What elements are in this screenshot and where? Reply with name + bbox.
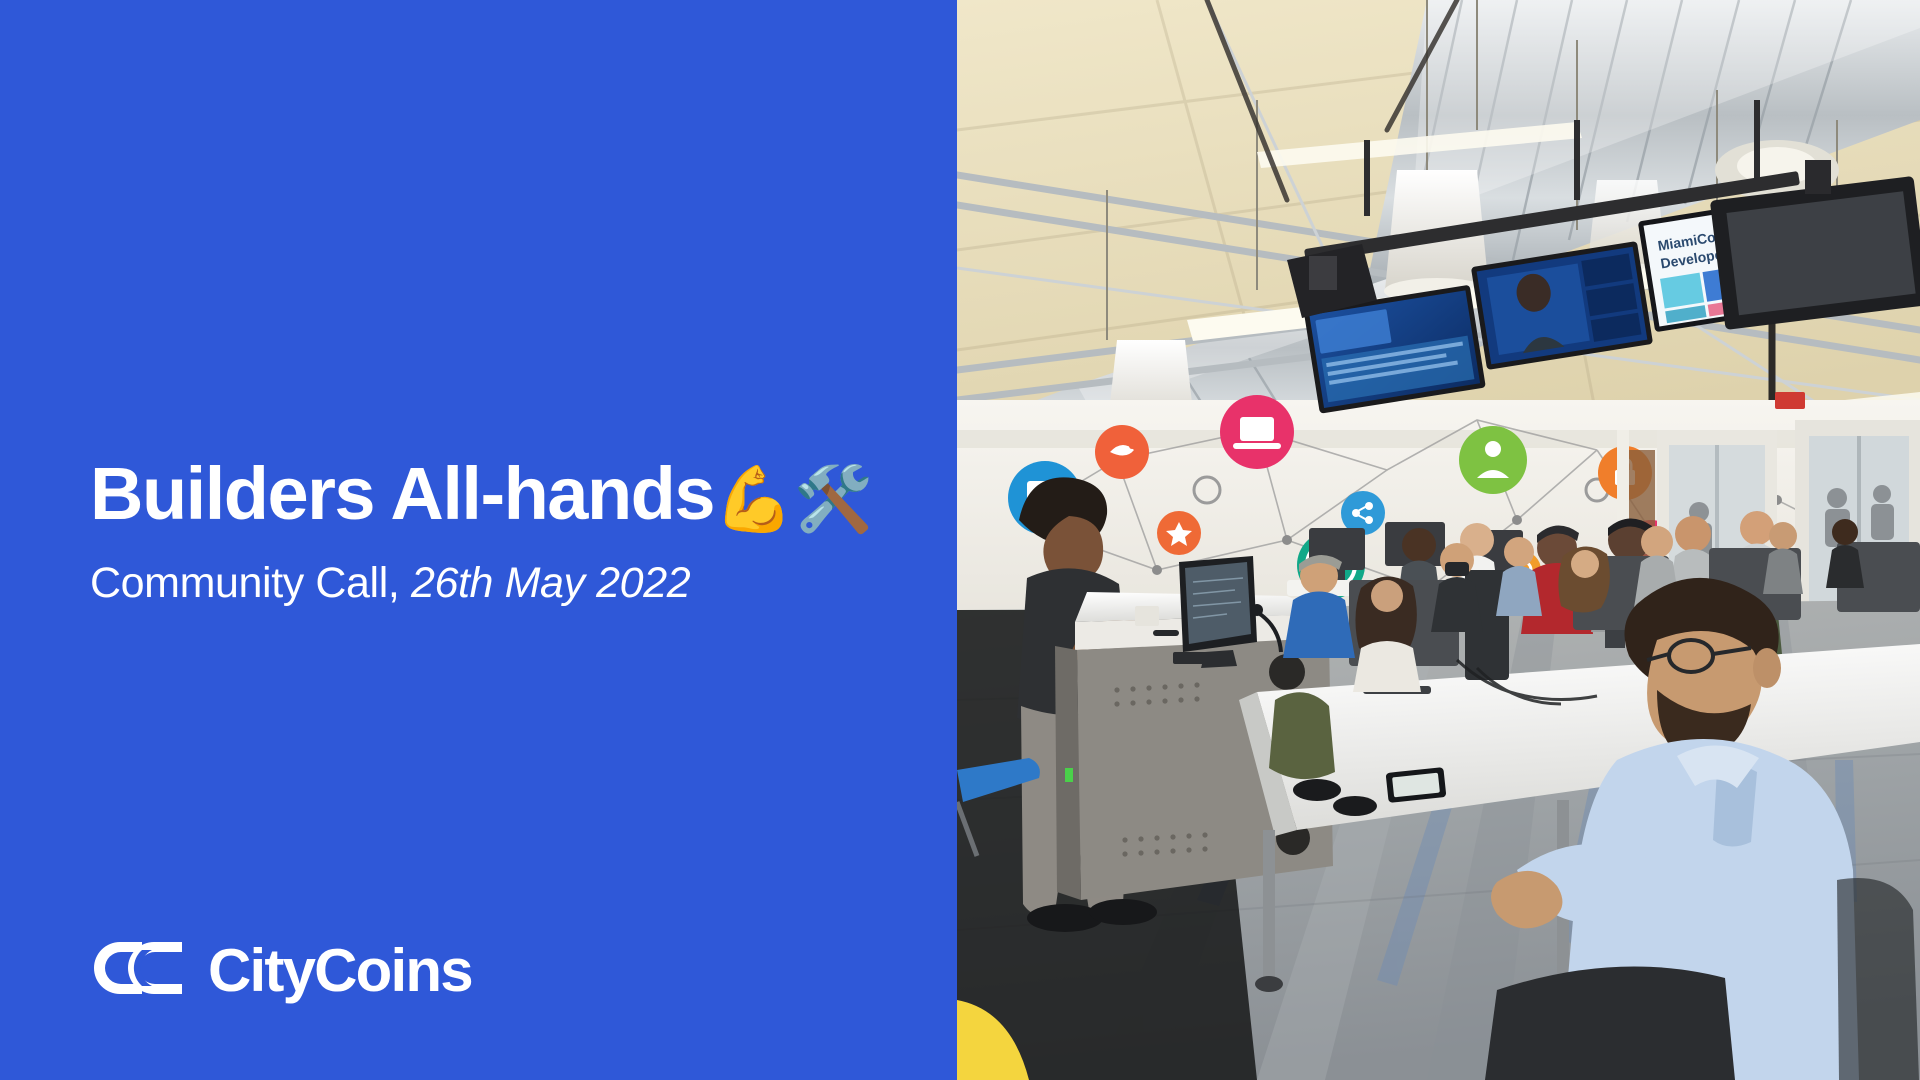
hammer-and-wrench-icon: 🛠️ <box>794 463 874 535</box>
brand-logo: CityCoins <box>90 938 472 1003</box>
page-title: Builders All-hands💪🛠️ <box>90 455 920 533</box>
subtitle-label: Community Call, <box>90 559 399 607</box>
brand-wordmark: CityCoins <box>208 941 472 1001</box>
event-photo: MiamiCoin Web3 Developer Camp <box>957 0 1920 1080</box>
flexed-biceps-icon: 💪 <box>714 463 794 535</box>
page-subtitle: Community Call, 26th May 2022 <box>90 559 920 608</box>
citycoins-double-c-icon <box>90 938 186 1003</box>
subtitle-date: 26th May 2022 <box>411 559 690 607</box>
title-panel: Builders All-hands💪🛠️ Community Call, 26… <box>0 0 957 1080</box>
title-block: Builders All-hands💪🛠️ Community Call, 26… <box>90 455 920 608</box>
presentation-slide: Builders All-hands💪🛠️ Community Call, 26… <box>0 0 1920 1080</box>
event-title-text: Builders All-hands <box>90 452 714 535</box>
